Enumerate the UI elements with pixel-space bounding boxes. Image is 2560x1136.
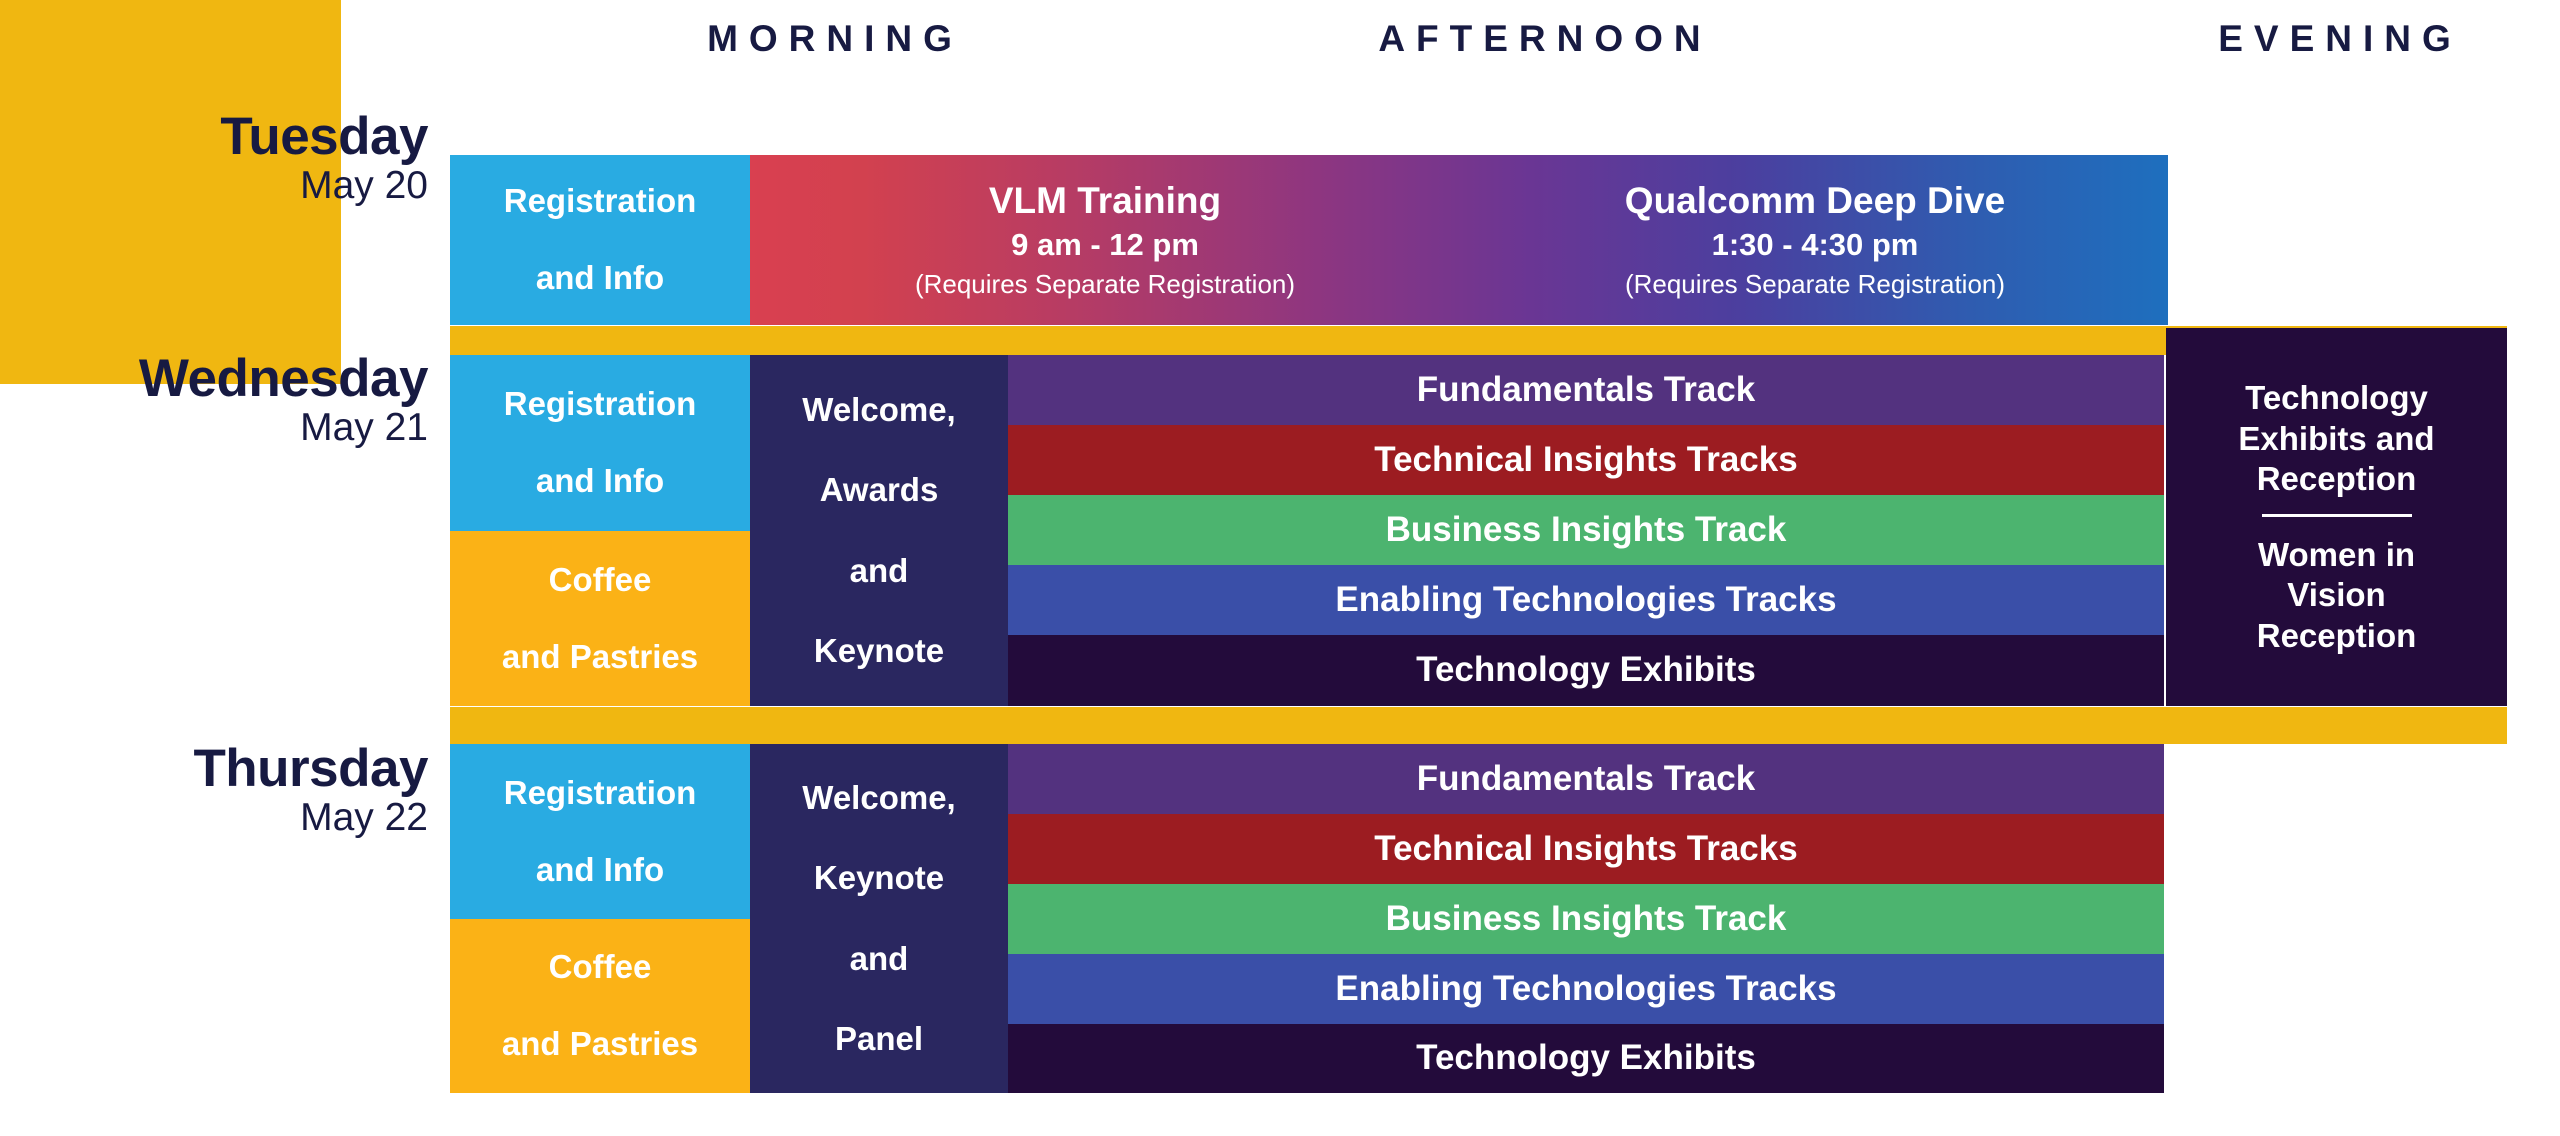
thursday-track-technical-insights[interactable]: Technical Insights Tracks bbox=[1008, 814, 2164, 884]
wednesday-track-fundamentals-label: Fundamentals Track bbox=[1008, 371, 2164, 410]
wednesday-evening-bottom-line1: Women in bbox=[2257, 535, 2417, 575]
thursday-track-fundamentals-label: Fundamentals Track bbox=[1008, 760, 2164, 799]
wednesday-coffee-line1: Coffee bbox=[458, 561, 742, 600]
wednesday-registration-line1: Registration bbox=[458, 385, 742, 424]
wednesday-welcome-line1: Welcome, bbox=[758, 390, 1000, 430]
tuesday-registration-line2: and Info bbox=[458, 259, 742, 298]
wednesday-evening-top-line3: Reception bbox=[2238, 459, 2434, 499]
thursday-track-business-insights[interactable]: Business Insights Track bbox=[1008, 884, 2164, 954]
thursday-welcome-line4: Panel bbox=[758, 1019, 1000, 1059]
schedule-canvas: MORNING AFTERNOON EVENING Tuesday May 20… bbox=[0, 0, 2560, 1136]
wednesday-evening-top-line1: Technology bbox=[2238, 378, 2434, 418]
wednesday-evening-bottom-line2: Vision bbox=[2257, 575, 2417, 615]
day-label-thursday: Thursday May 22 bbox=[0, 742, 428, 840]
wednesday-track-business-insights[interactable]: Business Insights Track bbox=[1008, 495, 2164, 565]
thursday-coffee-line1: Coffee bbox=[458, 948, 742, 987]
wednesday-evening-bottom-line3: Reception bbox=[2257, 616, 2417, 656]
thursday-track-enabling-technologies[interactable]: Enabling Technologies Tracks bbox=[1008, 954, 2164, 1024]
thursday-track-technical-insights-label: Technical Insights Tracks bbox=[1008, 830, 2164, 869]
column-header-afternoon: AFTERNOON bbox=[1290, 16, 1800, 62]
thursday-coffee-block[interactable]: Coffee and Pastries bbox=[450, 919, 750, 1093]
tuesday-registration-line1: Registration bbox=[458, 182, 742, 221]
thursday-registration-block[interactable]: Registration and Info bbox=[450, 744, 750, 919]
qualcomm-deep-dive-note: (Requires Separate Registration) bbox=[1625, 269, 2005, 300]
day-date-tuesday: May 20 bbox=[0, 164, 428, 208]
thursday-welcome-line3: and bbox=[758, 939, 1000, 979]
thursday-registration-line1: Registration bbox=[458, 774, 742, 813]
wednesday-registration-block[interactable]: Registration and Info bbox=[450, 355, 750, 531]
day-name-thursday: Thursday bbox=[0, 742, 428, 796]
thursday-track-business-insights-label: Business Insights Track bbox=[1008, 900, 2164, 939]
wednesday-registration-line2: and Info bbox=[458, 462, 742, 501]
column-header-morning: MORNING bbox=[610, 16, 1060, 62]
wednesday-welcome-line2: Awards bbox=[758, 470, 1000, 510]
thursday-welcome-line1: Welcome, bbox=[758, 778, 1000, 818]
wednesday-track-technology-exhibits-label: Technology Exhibits bbox=[1008, 651, 2164, 690]
thursday-welcome-block[interactable]: Welcome, Keynote and Panel bbox=[750, 744, 1008, 1093]
divider-bar-wednesday-thursday bbox=[450, 707, 2507, 744]
vlm-training-title: VLM Training bbox=[989, 180, 1221, 223]
tuesday-session-qualcomm-deep-dive[interactable]: Qualcomm Deep Dive 1:30 - 4:30 pm (Requi… bbox=[1470, 155, 2160, 325]
wednesday-welcome-line4: Keynote bbox=[758, 631, 1000, 671]
column-header-evening: EVENING bbox=[2110, 16, 2560, 62]
thursday-track-fundamentals[interactable]: Fundamentals Track bbox=[1008, 744, 2164, 814]
wednesday-coffee-block[interactable]: Coffee and Pastries bbox=[450, 531, 750, 706]
qualcomm-deep-dive-title: Qualcomm Deep Dive bbox=[1625, 180, 2005, 223]
day-date-thursday: May 22 bbox=[0, 796, 428, 840]
thursday-welcome-line2: Keynote bbox=[758, 858, 1000, 898]
vlm-training-time: 9 am - 12 pm bbox=[1011, 226, 1199, 263]
wednesday-track-technology-exhibits[interactable]: Technology Exhibits bbox=[1008, 635, 2164, 706]
wednesday-track-fundamentals[interactable]: Fundamentals Track bbox=[1008, 355, 2164, 425]
wednesday-coffee-line2: and Pastries bbox=[458, 638, 742, 677]
wednesday-track-enabling-technologies[interactable]: Enabling Technologies Tracks bbox=[1008, 565, 2164, 635]
wednesday-track-technical-insights[interactable]: Technical Insights Tracks bbox=[1008, 425, 2164, 495]
day-label-tuesday: Tuesday May 20 bbox=[0, 110, 428, 208]
qualcomm-deep-dive-time: 1:30 - 4:30 pm bbox=[1712, 226, 1919, 263]
thursday-registration-line2: and Info bbox=[458, 851, 742, 890]
wednesday-track-technical-insights-label: Technical Insights Tracks bbox=[1008, 441, 2164, 480]
day-name-wednesday: Wednesday bbox=[0, 352, 428, 406]
wednesday-evening-block[interactable]: Technology Exhibits and Reception Women … bbox=[2166, 328, 2507, 706]
thursday-track-enabling-technologies-label: Enabling Technologies Tracks bbox=[1008, 970, 2164, 1009]
thursday-coffee-line2: and Pastries bbox=[458, 1025, 742, 1064]
thursday-track-technology-exhibits[interactable]: Technology Exhibits bbox=[1008, 1024, 2164, 1093]
day-label-wednesday: Wednesday May 21 bbox=[0, 352, 428, 450]
wednesday-welcome-block[interactable]: Welcome, Awards and Keynote bbox=[750, 355, 1008, 706]
tuesday-session-vlm-training[interactable]: VLM Training 9 am - 12 pm (Requires Sepa… bbox=[760, 155, 1450, 325]
day-name-tuesday: Tuesday bbox=[0, 110, 428, 164]
wednesday-track-enabling-technologies-label: Enabling Technologies Tracks bbox=[1008, 581, 2164, 620]
wednesday-evening-women-in-vision: Women in Vision Reception bbox=[2257, 535, 2417, 656]
day-date-wednesday: May 21 bbox=[0, 406, 428, 450]
wednesday-evening-exhibits-reception: Technology Exhibits and Reception bbox=[2238, 378, 2434, 499]
tuesday-registration-block[interactable]: Registration and Info bbox=[450, 155, 750, 325]
evening-divider-rule bbox=[2262, 514, 2412, 517]
wednesday-track-business-insights-label: Business Insights Track bbox=[1008, 511, 2164, 550]
wednesday-evening-top-line2: Exhibits and bbox=[2238, 419, 2434, 459]
wednesday-welcome-line3: and bbox=[758, 551, 1000, 591]
vlm-training-note: (Requires Separate Registration) bbox=[915, 269, 1295, 300]
thursday-track-technology-exhibits-label: Technology Exhibits bbox=[1008, 1039, 2164, 1078]
